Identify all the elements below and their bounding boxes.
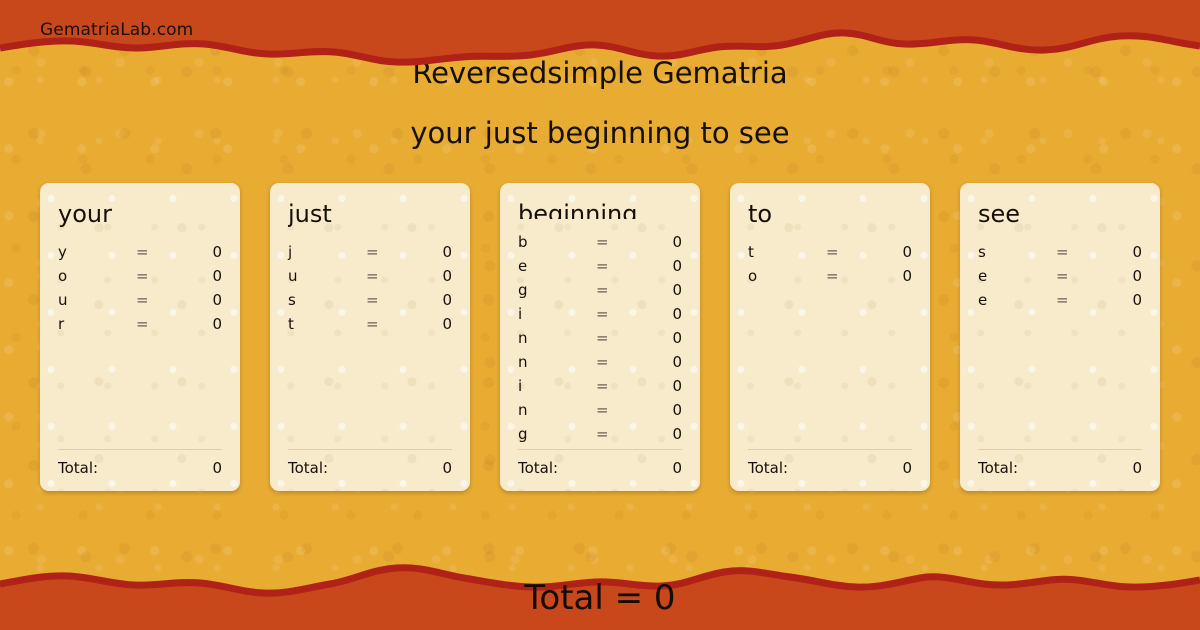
equals-sign: =: [596, 401, 648, 419]
card-word-label: your: [58, 201, 222, 229]
letter-row: s=0: [978, 243, 1142, 267]
card-total-row: Total:0: [978, 459, 1142, 477]
letter-value: 0: [648, 353, 682, 371]
letter-value-list: t=0o=0: [748, 243, 912, 449]
letter-char: e: [518, 257, 596, 275]
letter-row: j=0: [288, 243, 452, 267]
card-separator: [288, 449, 452, 450]
equals-sign: =: [366, 243, 418, 261]
letter-value: 0: [418, 267, 452, 285]
letter-row: e=0: [518, 257, 682, 281]
letter-value: 0: [648, 329, 682, 347]
letter-char: t: [748, 243, 826, 261]
letter-row: n=0: [518, 329, 682, 353]
equals-sign: =: [366, 315, 418, 333]
equals-sign: =: [1056, 243, 1108, 261]
letter-value: 0: [648, 257, 682, 275]
card-separator: [748, 449, 912, 450]
letter-row: g=0: [518, 425, 682, 449]
equals-sign: =: [136, 243, 188, 261]
equals-sign: =: [1056, 267, 1108, 285]
equals-sign: =: [366, 291, 418, 309]
card-total-row: Total:0: [518, 459, 682, 477]
equals-sign: =: [366, 267, 418, 285]
equals-sign: =: [136, 267, 188, 285]
letter-value: 0: [1108, 243, 1142, 261]
letter-value: 0: [878, 267, 912, 285]
letter-value-list: b=0e=0g=0i=0n=0n=0i=0n=0g=0: [518, 233, 682, 449]
letter-row: g=0: [518, 281, 682, 305]
equals-sign: =: [596, 281, 648, 299]
equals-sign: =: [596, 377, 648, 395]
card-separator: [518, 449, 682, 450]
letter-char: u: [58, 291, 136, 309]
grand-total-label: Total = 0: [0, 578, 1200, 618]
equals-sign: =: [596, 257, 648, 275]
letter-char: e: [978, 291, 1056, 309]
equals-sign: =: [596, 305, 648, 323]
letter-value: 0: [878, 243, 912, 261]
letter-value: 0: [648, 401, 682, 419]
letter-char: r: [58, 315, 136, 333]
letter-row: n=0: [518, 401, 682, 425]
letter-char: n: [518, 401, 596, 419]
letter-char: o: [58, 267, 136, 285]
letter-row: y=0: [58, 243, 222, 267]
letter-char: t: [288, 315, 366, 333]
letter-char: n: [518, 329, 596, 347]
word-card: justj=0u=0s=0t=0Total:0: [270, 183, 470, 491]
card-total-value: 0: [1132, 459, 1142, 477]
card-total-value: 0: [902, 459, 912, 477]
letter-row: t=0: [748, 243, 912, 267]
equals-sign: =: [826, 243, 878, 261]
word-card: tot=0o=0Total:0: [730, 183, 930, 491]
card-total-value: 0: [672, 459, 682, 477]
letter-row: o=0: [748, 267, 912, 291]
letter-char: y: [58, 243, 136, 261]
letter-value: 0: [1108, 291, 1142, 309]
card-total-row: Total:0: [288, 459, 452, 477]
equals-sign: =: [136, 291, 188, 309]
letter-value: 0: [648, 377, 682, 395]
page-background: GematriaLab.com Reversedsimple Gematria …: [0, 0, 1200, 630]
letter-value: 0: [188, 267, 222, 285]
letter-char: o: [748, 267, 826, 285]
letter-char: s: [288, 291, 366, 309]
letter-row: e=0: [978, 267, 1142, 291]
letter-value: 0: [648, 305, 682, 323]
letter-value-list: s=0e=0e=0: [978, 243, 1142, 449]
letter-char: i: [518, 377, 596, 395]
letter-char: e: [978, 267, 1056, 285]
letter-char: j: [288, 243, 366, 261]
letter-row: e=0: [978, 291, 1142, 315]
equals-sign: =: [596, 329, 648, 347]
equals-sign: =: [596, 233, 648, 251]
card-word-label: beginning: [518, 201, 682, 219]
letter-value: 0: [1108, 267, 1142, 285]
letter-char: g: [518, 425, 596, 443]
card-separator: [978, 449, 1142, 450]
card-word-label: just: [288, 201, 452, 229]
letter-row: u=0: [58, 291, 222, 315]
letter-value: 0: [188, 243, 222, 261]
letter-value: 0: [648, 425, 682, 443]
card-separator: [58, 449, 222, 450]
letter-row: b=0: [518, 233, 682, 257]
letter-value: 0: [418, 315, 452, 333]
letter-row: t=0: [288, 315, 452, 339]
letter-char: i: [518, 305, 596, 323]
letter-char: b: [518, 233, 596, 251]
equals-sign: =: [1056, 291, 1108, 309]
letter-row: u=0: [288, 267, 452, 291]
word-card: youry=0o=0u=0r=0Total:0: [40, 183, 240, 491]
letter-value: 0: [188, 291, 222, 309]
letter-row: r=0: [58, 315, 222, 339]
equals-sign: =: [826, 267, 878, 285]
letter-row: s=0: [288, 291, 452, 315]
site-logo[interactable]: GematriaLab.com: [40, 20, 193, 40]
letter-value-list: j=0u=0s=0t=0: [288, 243, 452, 449]
letter-value: 0: [418, 291, 452, 309]
phrase-title: your just beginning to see: [0, 118, 1200, 150]
letter-char: n: [518, 353, 596, 371]
card-total-label: Total:: [58, 459, 98, 477]
letter-value: 0: [188, 315, 222, 333]
letter-char: s: [978, 243, 1056, 261]
card-total-label: Total:: [288, 459, 328, 477]
letter-row: i=0: [518, 377, 682, 401]
letter-value: 0: [648, 281, 682, 299]
letter-row: n=0: [518, 353, 682, 377]
letter-char: g: [518, 281, 596, 299]
letter-value: 0: [418, 243, 452, 261]
card-total-label: Total:: [978, 459, 1018, 477]
letter-row: o=0: [58, 267, 222, 291]
word-card: sees=0e=0e=0Total:0: [960, 183, 1160, 491]
card-word-label: see: [978, 201, 1142, 229]
letter-value: 0: [648, 233, 682, 251]
letter-row: i=0: [518, 305, 682, 329]
word-card: beginningb=0e=0g=0i=0n=0n=0i=0n=0g=0Tota…: [500, 183, 700, 491]
equals-sign: =: [596, 353, 648, 371]
card-total-row: Total:0: [58, 459, 222, 477]
card-total-label: Total:: [748, 459, 788, 477]
letter-char: u: [288, 267, 366, 285]
card-total-value: 0: [442, 459, 452, 477]
word-card-list: youry=0o=0u=0r=0Total:0justj=0u=0s=0t=0T…: [40, 183, 1160, 491]
card-total-row: Total:0: [748, 459, 912, 477]
card-word-label: to: [748, 201, 912, 229]
card-total-value: 0: [212, 459, 222, 477]
card-total-label: Total:: [518, 459, 558, 477]
equals-sign: =: [596, 425, 648, 443]
letter-value-list: y=0o=0u=0r=0: [58, 243, 222, 449]
equals-sign: =: [136, 315, 188, 333]
